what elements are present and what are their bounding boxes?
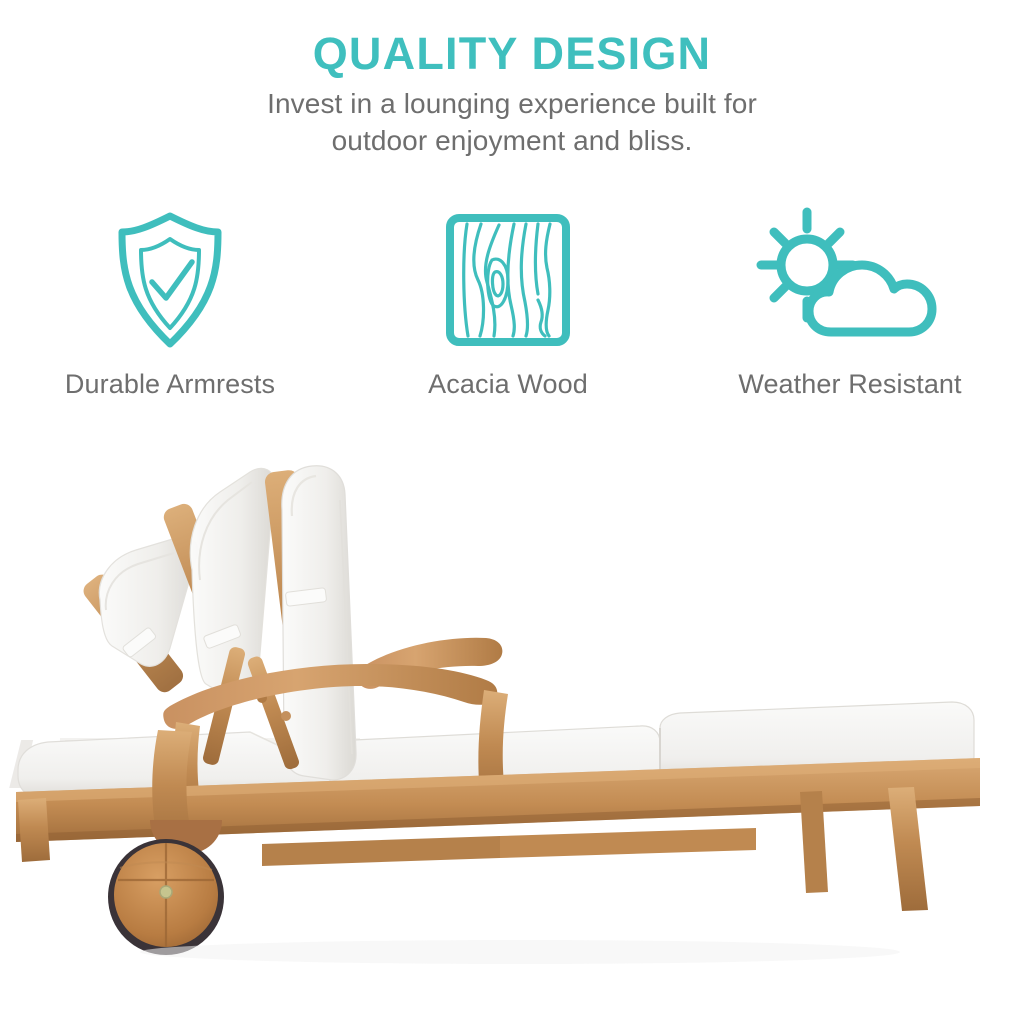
feature-label: Acacia Wood xyxy=(428,369,588,400)
ground-shadow xyxy=(140,940,900,964)
subtitle-line-1: Invest in a lounging experience built fo… xyxy=(0,86,1024,122)
page-subtitle: Invest in a lounging experience built fo… xyxy=(0,86,1024,159)
frame-stretcher-left xyxy=(262,836,500,866)
wheel-axle-cap xyxy=(160,886,172,898)
feature-item-acacia-wood: Acacia Wood xyxy=(340,205,676,400)
wood-grain-icon xyxy=(442,205,574,355)
product-image-chaise-lounge xyxy=(0,440,1024,1024)
feature-label: Weather Resistant xyxy=(738,369,961,400)
sun-cloud-icon xyxy=(755,205,945,355)
product-feature-page: QUALITY DESIGN Invest in a lounging expe… xyxy=(0,0,1024,1024)
feature-item-durable-armrests: Durable Armrests xyxy=(0,205,340,400)
page-title: QUALITY DESIGN xyxy=(0,30,1024,77)
frame-stretcher-right xyxy=(500,828,756,858)
feature-list: Durable Armrests xyxy=(0,205,1024,400)
leg-foot-end xyxy=(18,798,50,862)
feature-item-weather-resistant: Weather Resistant xyxy=(676,205,1024,400)
shield-check-icon xyxy=(110,205,230,355)
feature-label: Durable Armrests xyxy=(65,369,275,400)
header: QUALITY DESIGN Invest in a lounging expe… xyxy=(0,30,1024,159)
subtitle-line-2: outdoor enjoyment and bliss. xyxy=(0,123,1024,159)
